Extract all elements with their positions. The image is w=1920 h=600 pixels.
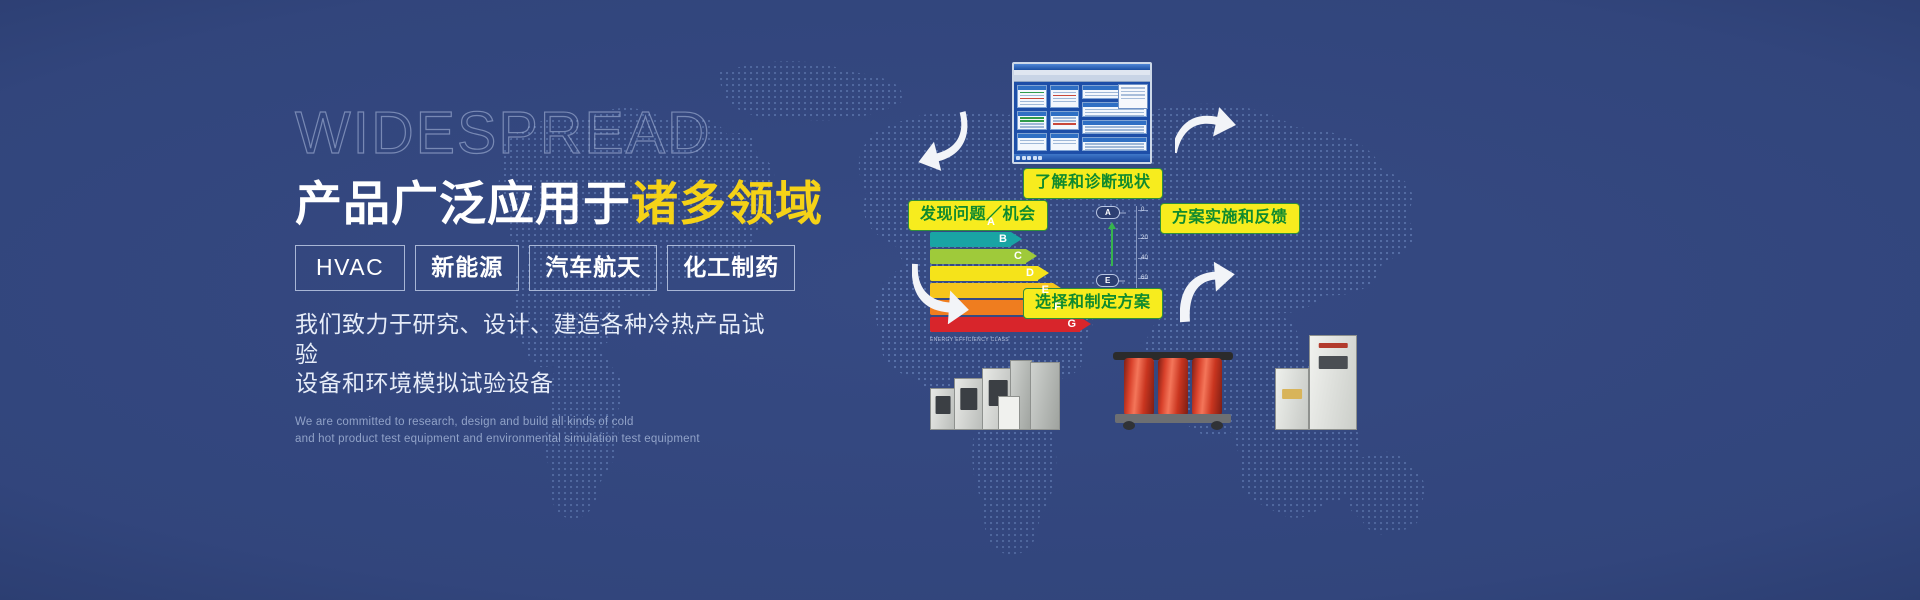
tag-automotive-aerospace[interactable]: 汽车航天 <box>529 245 657 291</box>
energy-scale-tick-label: 40 <box>1141 255 1148 261</box>
energy-scale-marker-a: A <box>1096 206 1120 219</box>
screenshot-card-row <box>1017 133 1079 151</box>
description-cn-line2: 设备和环境模拟试验设备 <box>295 369 765 398</box>
energy-bar-label-b: B <box>999 234 1011 245</box>
screenshot-statusbar <box>1014 154 1150 162</box>
product-dry-type-transformer <box>1113 350 1233 430</box>
description-en: We are committed to research, design and… <box>295 414 765 449</box>
curved-arrow-up-icon <box>1180 262 1242 329</box>
screenshot-card <box>1082 120 1147 134</box>
curved-arrow-down-left-icon <box>910 110 972 177</box>
description-en-line1: We are committed to research, design and… <box>295 414 765 431</box>
screenshot-card-row <box>1017 85 1079 108</box>
energy-bar-label-d: D <box>1026 268 1038 279</box>
energy-bar-label-a: A <box>987 217 999 228</box>
screenshot-body <box>1014 82 1150 154</box>
transformer-wheel <box>1123 421 1135 430</box>
product-control-cabinets <box>1275 335 1361 430</box>
description-cn: 我们致力于研究、设计、建造各种冷热产品试验 设备和环境模拟试验设备 <box>295 310 765 398</box>
callout-discover-problems[interactable]: 发现问题／机会 <box>908 200 1048 231</box>
product-vfd-drives <box>930 360 1060 430</box>
energy-bar-b: B <box>930 232 1011 247</box>
screenshot-card <box>1050 85 1080 108</box>
headline-white-part: 产品广泛应用于 <box>295 177 631 230</box>
promo-banner: WIDESPREAD 产品广泛应用于诸多领域 HVAC 新能源 汽车航天 化工制… <box>0 0 1920 600</box>
product-photo-group <box>930 330 1360 430</box>
control-cabinet-short <box>1275 368 1309 430</box>
vfd-unit-medium <box>954 378 984 430</box>
screenshot-card <box>1050 111 1080 131</box>
energy-scale-tick-label: 20 <box>1141 235 1148 241</box>
ghost-title: WIDESPREAD <box>295 104 765 163</box>
screenshot-popup-menu <box>1118 84 1148 109</box>
vfd-unit-front <box>998 396 1020 430</box>
screenshot-card-row <box>1017 111 1079 131</box>
curved-arrow-up-right-icon <box>1175 105 1237 172</box>
energy-scale-tick-label: 0 <box>1141 207 1145 213</box>
screenshot-toolbar <box>1014 75 1150 82</box>
callout-implement-feedback[interactable]: 方案实施和反馈 <box>1160 203 1300 234</box>
description-en-line2: and hot product test equipment and envir… <box>295 431 765 448</box>
vfd-cabinet-door-right <box>1030 362 1060 430</box>
energy-bar-label-c: C <box>1014 251 1026 262</box>
hero-text-block: WIDESPREAD 产品广泛应用于诸多领域 HVAC 新能源 汽车航天 化工制… <box>295 104 765 448</box>
screenshot-card <box>1017 85 1047 108</box>
energy-bar-label-g: G <box>1067 319 1080 330</box>
transformer-coil <box>1124 358 1154 416</box>
process-cycle-diagram: kWh / annum A B C D E F G ENERGY EFFICIE… <box>760 0 1920 600</box>
vfd-unit-small <box>930 388 956 430</box>
energy-scale-marker-e: E <box>1096 274 1119 287</box>
screenshot-card <box>1017 133 1047 151</box>
transformer-coils <box>1117 358 1229 416</box>
transformer-wheel <box>1211 421 1223 430</box>
energy-scale-tick-label: 60 <box>1141 275 1148 281</box>
energy-bar-label-e: E <box>1042 285 1053 296</box>
transformer-coil <box>1192 358 1222 416</box>
tag-hvac[interactable]: HVAC <box>295 245 405 291</box>
callout-diagnose-status[interactable]: 了解和诊断现状 <box>1023 168 1163 199</box>
curved-arrow-down-right-icon <box>912 262 974 329</box>
screenshot-card <box>1050 133 1080 151</box>
tag-row: HVAC 新能源 汽车航天 化工制药 <box>295 245 765 291</box>
screenshot-card <box>1082 137 1147 151</box>
screenshot-card <box>1017 111 1047 131</box>
energy-bar-label-f: F <box>1054 302 1065 313</box>
screenshot-left-column <box>1017 85 1079 151</box>
control-cabinet-tall <box>1309 335 1357 430</box>
transformer-coil <box>1158 358 1188 416</box>
energy-scale-up-arrow-icon <box>1111 228 1113 266</box>
page-title: 产品广泛应用于诸多领域 <box>295 179 765 228</box>
tag-new-energy[interactable]: 新能源 <box>415 245 519 291</box>
description-cn-line1: 我们致力于研究、设计、建造各种冷热产品试验 <box>295 310 765 369</box>
software-analysis-window-image <box>1012 62 1152 164</box>
